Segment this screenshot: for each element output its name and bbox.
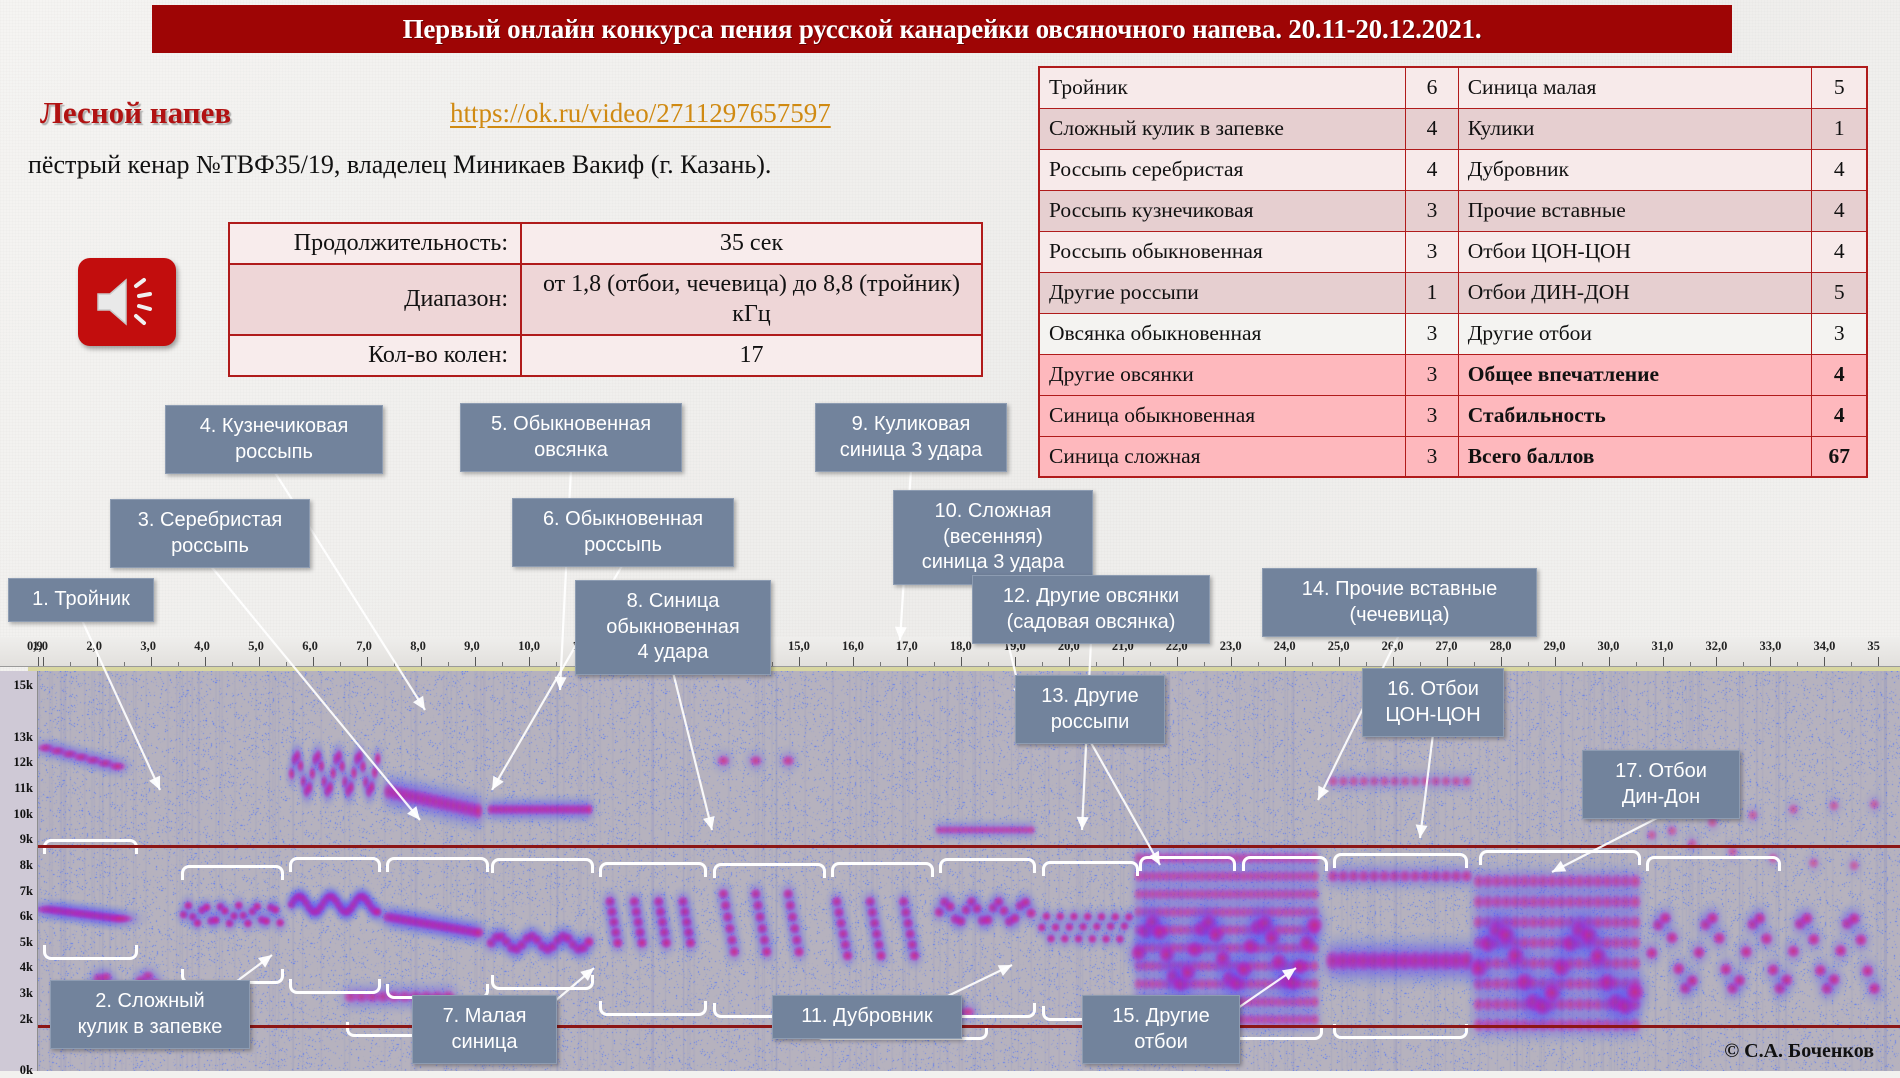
info-row-value: от 1,8 (отбои, чечевица) до 8,8 (тройник… bbox=[521, 264, 982, 335]
syllable-bracket bbox=[599, 1001, 707, 1016]
time-tick-mark bbox=[1555, 657, 1556, 666]
callout-text-line: синица bbox=[423, 1030, 546, 1056]
score-value-left: 3 bbox=[1406, 395, 1458, 436]
info-row-key: Диапазон: bbox=[229, 264, 521, 335]
score-row: Россыпь обыкновенная3Отбои ЦОН-ЦОН4 bbox=[1039, 231, 1867, 272]
time-tick-label: 34,0 bbox=[1813, 639, 1835, 654]
syllable-bracket bbox=[1646, 856, 1781, 871]
time-tick-minor bbox=[1150, 662, 1151, 666]
callout-text-line: россыпь bbox=[121, 534, 299, 560]
time-tick-minor bbox=[1096, 662, 1097, 666]
time-tick-minor bbox=[1636, 662, 1637, 666]
time-tick-label: 26,0 bbox=[1382, 639, 1404, 654]
time-tick-mark bbox=[1878, 657, 1879, 666]
score-value-left: 6 bbox=[1406, 67, 1458, 108]
time-tick-label: 17,0 bbox=[896, 639, 918, 654]
page-title: Первый онлайн конкурса пения русской кан… bbox=[403, 14, 1482, 45]
time-tick-label: 18,0 bbox=[950, 639, 972, 654]
score-label-left: Овсянка обыкновенная bbox=[1039, 313, 1406, 354]
score-row: Другие россыпи1Отбои ДИН-ДОН5 bbox=[1039, 272, 1867, 313]
score-row: Россыпь серебристая4Дубровник4 bbox=[1039, 149, 1867, 190]
callout-9: 9. Куликоваясиница 3 удара bbox=[815, 403, 1007, 472]
score-label-right: Всего баллов bbox=[1458, 436, 1812, 477]
time-tick-minor bbox=[988, 662, 989, 666]
callout-text-line: (чечевица) bbox=[1273, 603, 1526, 629]
time-tick-mark bbox=[1609, 657, 1610, 666]
title-banner: Первый онлайн конкурса пения русской кан… bbox=[152, 5, 1732, 53]
time-tick-mark bbox=[1069, 657, 1070, 666]
time-tick-label: 10,0 bbox=[518, 639, 540, 654]
time-tick-minor bbox=[232, 662, 233, 666]
score-label-right: Общее впечатление bbox=[1458, 354, 1812, 395]
callout-text-line: синица 3 удара bbox=[826, 438, 996, 464]
score-value-left: 4 bbox=[1406, 149, 1458, 190]
score-value-right: 4 bbox=[1812, 231, 1867, 272]
freq-tick-label: 9k bbox=[20, 832, 33, 847]
owner-line: пёстрый кенар №ТВФ35/19, владелец Миника… bbox=[28, 150, 771, 180]
time-tick-minor bbox=[178, 662, 179, 666]
time-tick-minor bbox=[556, 662, 557, 666]
callout-10: 10. Сложная(весенняя)синица 3 удара bbox=[893, 490, 1093, 585]
time-tick-minor bbox=[1204, 662, 1205, 666]
callout-text-line: 4. Кузнечиковая bbox=[176, 414, 372, 440]
time-tick-mark bbox=[1393, 657, 1394, 666]
score-table: Тройник6Синица малая5Сложный кулик в зап… bbox=[1038, 66, 1868, 478]
time-tick-minor bbox=[1042, 662, 1043, 666]
time-tick-label: 32,0 bbox=[1705, 639, 1727, 654]
score-label-left: Синица сложная bbox=[1039, 436, 1406, 477]
syllable-bracket bbox=[289, 857, 381, 872]
callout-text-line: россыпь bbox=[176, 440, 372, 466]
callout-text-line: россыпь bbox=[523, 533, 723, 559]
callout-8: 8. Синицаобыкновенная4 удара bbox=[575, 580, 771, 675]
time-tick-mark bbox=[205, 657, 206, 666]
score-value-left: 3 bbox=[1406, 354, 1458, 395]
time-tick-minor bbox=[502, 662, 503, 666]
frequency-marker-line bbox=[38, 1025, 1900, 1028]
score-label-left: Другие овсянки bbox=[1039, 354, 1406, 395]
time-tick-minor bbox=[1258, 662, 1259, 666]
score-value-right: 4 bbox=[1812, 354, 1867, 395]
callout-1: 1. Тройник bbox=[8, 578, 154, 622]
time-tick-mark bbox=[1177, 657, 1178, 666]
syllable-bracket bbox=[491, 858, 594, 873]
score-label-right: Дубровник bbox=[1458, 149, 1812, 190]
freq-tick-label: 6k bbox=[20, 909, 33, 924]
callout-2: 2. Сложныйкулик в запевке bbox=[50, 980, 250, 1049]
syllable-bracket bbox=[289, 979, 381, 994]
score-label-left: Россыпь кузнечиковая bbox=[1039, 190, 1406, 231]
time-tick-mark bbox=[1123, 657, 1124, 666]
score-value-right: 3 bbox=[1812, 313, 1867, 354]
syllable-bracket bbox=[43, 945, 137, 960]
score-label-right: Синица малая bbox=[1458, 67, 1812, 108]
callout-text-line: 11. Дубровник bbox=[783, 1004, 951, 1030]
score-value-left: 4 bbox=[1406, 108, 1458, 149]
time-tick-minor bbox=[340, 662, 341, 666]
callout-text-line: (весенняя) bbox=[904, 525, 1082, 551]
time-tick-minor bbox=[826, 662, 827, 666]
time-tick-mark bbox=[38, 657, 39, 666]
callout-text-line: 13. Другие bbox=[1026, 684, 1154, 710]
score-value-right: 5 bbox=[1812, 67, 1867, 108]
time-tick-minor bbox=[1528, 662, 1529, 666]
score-value-left: 3 bbox=[1406, 190, 1458, 231]
callout-15: 15. Другиеотбои bbox=[1082, 995, 1240, 1064]
callout-text-line: россыпи bbox=[1026, 710, 1154, 736]
time-tick-minor bbox=[1797, 662, 1798, 666]
time-tick-mark bbox=[313, 657, 314, 666]
info-row: Диапазон:от 1,8 (отбои, чечевица) до 8,8… bbox=[229, 264, 982, 335]
time-tick-label: 29,0 bbox=[1544, 639, 1566, 654]
time-tick-minor bbox=[448, 662, 449, 666]
score-row: Сложный кулик в запевке4Кулики1 bbox=[1039, 108, 1867, 149]
syllable-bracket bbox=[713, 863, 826, 878]
time-tick-mark bbox=[799, 657, 800, 666]
time-tick-mark bbox=[259, 657, 260, 666]
time-tick-minor bbox=[880, 662, 881, 666]
time-tick-label: 5,0 bbox=[248, 639, 264, 654]
callout-12: 12. Другие овсянки(садовая овсянка) bbox=[972, 575, 1210, 644]
time-tick-minor bbox=[1582, 662, 1583, 666]
callout-text-line: 2. Сложный bbox=[61, 989, 239, 1015]
callout-16: 16. ОтбоиЦОН-ЦОН bbox=[1362, 668, 1504, 737]
time-tick-label: 8,0 bbox=[410, 639, 426, 654]
syllable-bracket bbox=[1242, 856, 1328, 871]
time-tick-label: 7,0 bbox=[356, 639, 372, 654]
napev-title: Лесной напев bbox=[40, 95, 231, 131]
time-tick-minor bbox=[124, 662, 125, 666]
time-tick-mark bbox=[961, 657, 962, 666]
time-tick-minor bbox=[1312, 662, 1313, 666]
callout-text-line: отбои bbox=[1093, 1030, 1229, 1056]
score-label-left: Сложный кулик в запевке bbox=[1039, 108, 1406, 149]
time-tick-label: 35 bbox=[1867, 639, 1880, 654]
info-row: Продолжительность:35 сек bbox=[229, 223, 982, 264]
time-tick-mark bbox=[1285, 657, 1286, 666]
freq-tick-label: 4k bbox=[20, 960, 33, 975]
time-tick-label: 28,0 bbox=[1490, 639, 1512, 654]
callout-text-line: 16. Отбои bbox=[1373, 677, 1493, 703]
syllable-bracket bbox=[1042, 861, 1139, 876]
score-label-right: Прочие вставные bbox=[1458, 190, 1812, 231]
callout-13: 13. Другиероссыпи bbox=[1015, 675, 1165, 744]
score-row: Тройник6Синица малая5 bbox=[1039, 67, 1867, 108]
time-tick-label: 2,0 bbox=[86, 639, 102, 654]
callout-6: 6. Обыкновеннаяроссыпь bbox=[512, 498, 734, 567]
time-tick-minor bbox=[1851, 662, 1852, 666]
callout-text-line: 17. Отбои bbox=[1593, 759, 1729, 785]
time-tick-mark bbox=[43, 657, 44, 666]
score-value-right: 4 bbox=[1812, 149, 1867, 190]
freq-tick-label: 13k bbox=[14, 730, 33, 745]
score-value-left: 3 bbox=[1406, 436, 1458, 477]
score-row: Овсянка обыкновенная3Другие отбои3 bbox=[1039, 313, 1867, 354]
syllable-bracket bbox=[491, 975, 594, 990]
time-tick-label: 27,0 bbox=[1436, 639, 1458, 654]
freq-tick-label: 7k bbox=[20, 884, 33, 899]
callout-text-line: 3. Серебристая bbox=[121, 508, 299, 534]
time-tick-minor bbox=[1366, 662, 1367, 666]
callout-text-line: 8. Синица bbox=[586, 589, 760, 615]
time-tick-label: 9,0 bbox=[464, 639, 480, 654]
spectrogram-image[interactable] bbox=[38, 671, 1900, 1071]
callout-text-line: 1. Тройник bbox=[19, 587, 143, 613]
time-tick-label: 16,0 bbox=[842, 639, 864, 654]
time-tick-label: 6,0 bbox=[302, 639, 318, 654]
info-row-value: 17 bbox=[521, 335, 982, 376]
callout-text-line: синица 3 удара bbox=[904, 550, 1082, 576]
score-row: Россыпь кузнечиковая3Прочие вставные4 bbox=[1039, 190, 1867, 231]
time-tick-label: 23,0 bbox=[1220, 639, 1242, 654]
time-tick-label: 31,0 bbox=[1652, 639, 1674, 654]
time-tick-minor bbox=[934, 662, 935, 666]
time-tick-mark bbox=[853, 657, 854, 666]
score-label-right: Отбои ЦОН-ЦОН bbox=[1458, 231, 1812, 272]
callout-text-line: 14. Прочие вставные bbox=[1273, 577, 1526, 603]
syllable-bracket bbox=[599, 862, 707, 877]
score-value-right: 4 bbox=[1812, 395, 1867, 436]
time-tick-mark bbox=[1447, 657, 1448, 666]
frequency-axis: 15k13k12k11k10k9k8k7k6k5k4k3k2k0k bbox=[0, 671, 38, 1071]
time-tick-minor bbox=[1743, 662, 1744, 666]
time-tick-mark bbox=[475, 657, 476, 666]
callout-text-line: 6. Обыкновенная bbox=[523, 507, 723, 533]
syllable-bracket bbox=[831, 862, 934, 877]
syllable-bracket bbox=[1139, 856, 1236, 871]
score-label-right: Стабильность bbox=[1458, 395, 1812, 436]
callout-4: 4. Кузнечиковаяроссыпь bbox=[165, 405, 383, 474]
freq-tick-label: 5k bbox=[20, 935, 33, 950]
score-row: Другие овсянки3Общее впечатление4 bbox=[1039, 354, 1867, 395]
score-label-left: Синица обыкновенная bbox=[1039, 395, 1406, 436]
syllable-bracket bbox=[1333, 853, 1468, 868]
time-tick-minor bbox=[286, 662, 287, 666]
time-tick-mark bbox=[1663, 657, 1664, 666]
time-tick-label: 15,0 bbox=[788, 639, 810, 654]
callout-text-line: 5. Обыкновенная bbox=[471, 412, 671, 438]
callout-text-line: (садовая овсянка) bbox=[983, 610, 1199, 636]
time-tick-mark bbox=[151, 657, 152, 666]
callout-text-line: 4 удара bbox=[586, 640, 760, 666]
time-tick-mark bbox=[1339, 657, 1340, 666]
time-tick-minor bbox=[1420, 662, 1421, 666]
time-tick-label: 3,0 bbox=[140, 639, 156, 654]
score-label-left: Другие россыпи bbox=[1039, 272, 1406, 313]
speaker-glyph bbox=[92, 272, 162, 332]
callout-text-line: кулик в запевке bbox=[61, 1015, 239, 1041]
info-table: Продолжительность:35 секДиапазон:от 1,8 … bbox=[228, 222, 983, 377]
time-tick-mark bbox=[97, 657, 98, 666]
score-row: Синица сложная3Всего баллов67 bbox=[1039, 436, 1867, 477]
callout-11: 11. Дубровник bbox=[772, 995, 962, 1039]
callout-5: 5. Обыкновеннаяовсянка bbox=[460, 403, 682, 472]
copyright-notice: © С.А. Боченков bbox=[1724, 1040, 1874, 1063]
score-label-right: Другие отбои bbox=[1458, 313, 1812, 354]
freq-tick-label: 11k bbox=[14, 781, 33, 796]
time-tick-mark bbox=[1015, 657, 1016, 666]
callout-text-line: 12. Другие овсянки bbox=[983, 584, 1199, 610]
time-tick-label: 24,0 bbox=[1274, 639, 1296, 654]
score-label-left: Россыпь обыкновенная bbox=[1039, 231, 1406, 272]
time-tick-label: 4,0 bbox=[194, 639, 210, 654]
syllable-bracket bbox=[1479, 850, 1641, 865]
score-label-left: Тройник bbox=[1039, 67, 1406, 108]
score-value-left: 3 bbox=[1406, 231, 1458, 272]
time-tick-mark bbox=[529, 657, 530, 666]
time-tick-mark bbox=[1716, 657, 1717, 666]
time-tick-label: 25,0 bbox=[1328, 639, 1350, 654]
info-row-key: Кол-во колен: bbox=[229, 335, 521, 376]
time-tick-label: 33,0 bbox=[1759, 639, 1781, 654]
speaker-icon[interactable] bbox=[78, 258, 176, 346]
time-tick-mark bbox=[1501, 657, 1502, 666]
info-row-key: Продолжительность: bbox=[229, 223, 521, 264]
time-tick-mark bbox=[367, 657, 368, 666]
callout-text-line: обыкновенная bbox=[586, 615, 760, 641]
time-tick-minor bbox=[772, 662, 773, 666]
time-tick-mark bbox=[907, 657, 908, 666]
time-tick-mark bbox=[1770, 657, 1771, 666]
score-value-right: 1 bbox=[1812, 108, 1867, 149]
score-label-left: Россыпь серебристая bbox=[1039, 149, 1406, 190]
syllable-bracket bbox=[939, 858, 1036, 873]
frequency-marker-line bbox=[38, 845, 1900, 848]
callout-text-line: 15. Другие bbox=[1093, 1004, 1229, 1030]
info-row-value: 35 сек bbox=[521, 223, 982, 264]
callout-3: 3. Серебристаяроссыпь bbox=[110, 499, 310, 568]
time-tick-mark bbox=[421, 657, 422, 666]
callout-text-line: 7. Малая bbox=[423, 1004, 546, 1030]
time-axis-ruler[interactable]: 0,91,02,03,04,05,06,07,08,09,010,011,012… bbox=[0, 637, 1900, 667]
score-label-right: Кулики bbox=[1458, 108, 1812, 149]
callout-14: 14. Прочие вставные(чечевица) bbox=[1262, 568, 1537, 637]
score-value-right: 5 bbox=[1812, 272, 1867, 313]
score-label-right: Отбои ДИН-ДОН bbox=[1458, 272, 1812, 313]
time-tick-label: 1,0 bbox=[32, 639, 48, 654]
score-value-left: 3 bbox=[1406, 313, 1458, 354]
info-row: Кол-во колен:17 bbox=[229, 335, 982, 376]
time-tick-minor bbox=[394, 662, 395, 666]
callout-text-line: 9. Куликовая bbox=[826, 412, 996, 438]
freq-tick-label: 2k bbox=[20, 1012, 33, 1027]
callout-text-line: овсянка bbox=[471, 438, 671, 464]
callout-7: 7. Малаясиница bbox=[412, 995, 557, 1064]
video-link[interactable]: https://ok.ru/video/2711297657597 bbox=[450, 98, 831, 129]
score-value-left: 1 bbox=[1406, 272, 1458, 313]
freq-tick-label: 3k bbox=[20, 986, 33, 1001]
freq-tick-label: 10k bbox=[14, 807, 33, 822]
callout-17: 17. ОтбоиДин-Дон bbox=[1582, 750, 1740, 819]
time-tick-minor bbox=[1690, 662, 1691, 666]
time-tick-label: 30,0 bbox=[1598, 639, 1620, 654]
callout-text-line: 10. Сложная bbox=[904, 499, 1082, 525]
callout-text-line: Дин-Дон bbox=[1593, 785, 1729, 811]
time-tick-mark bbox=[1231, 657, 1232, 666]
syllable-bracket bbox=[386, 857, 489, 872]
freq-tick-label: 12k bbox=[14, 755, 33, 770]
time-tick-minor bbox=[70, 662, 71, 666]
syllable-bracket bbox=[181, 865, 284, 880]
freq-tick-label: 15k bbox=[14, 678, 33, 693]
score-value-right: 4 bbox=[1812, 190, 1867, 231]
time-tick-minor bbox=[1474, 662, 1475, 666]
time-tick-mark bbox=[1824, 657, 1825, 666]
callout-text-line: ЦОН-ЦОН bbox=[1373, 703, 1493, 729]
score-row: Синица обыкновенная3Стабильность4 bbox=[1039, 395, 1867, 436]
freq-tick-label: 8k bbox=[20, 858, 33, 873]
score-value-right: 67 bbox=[1812, 436, 1867, 477]
